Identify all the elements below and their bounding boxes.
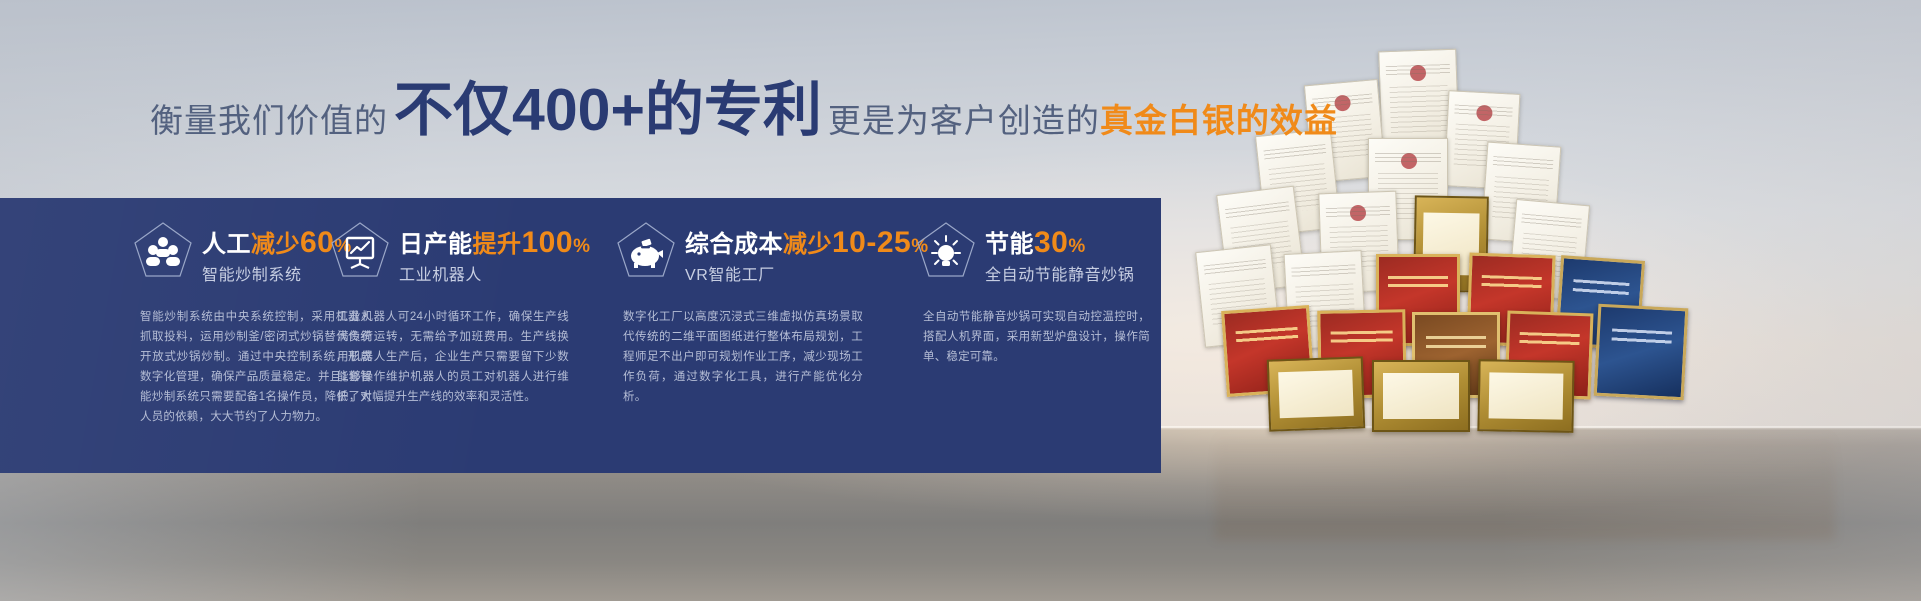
certificate-reflection: [1215, 430, 1835, 540]
award-frame: [1477, 359, 1574, 433]
feature-item: 日产能提升100% 工业机器人 工业机器人可24小时循环工作，确保生产线满负荷运…: [300, 198, 590, 473]
feature-body: 数字化工厂以高度沉浸式三维虚拟仿真场景取代传统的二维平面图纸进行整体布局规划，工…: [623, 307, 863, 407]
feature-head: 人工减少60% 智能炒制系统: [140, 198, 300, 276]
feature-subtitle: 智能炒制系统: [202, 268, 300, 284]
feature-body: 工业机器人可24小时循环工作，确保生产线满负荷运转，无需给予加班费用。生产线换用…: [337, 307, 569, 407]
headline-lead: 衡量我们价值的: [150, 104, 388, 140]
feature-list: 人工减少60% 智能炒制系统 智能炒制系统由中央系统控制，采用机器人抓取投料，运…: [0, 198, 1161, 473]
award-frame: [1372, 360, 1470, 432]
feature-head: 节能30% 全自动节能静音炒锅: [923, 198, 1161, 276]
feature-head: 综合成本减少10-25% VR智能工厂: [623, 198, 885, 276]
feature-subtitle: VR智能工厂: [685, 268, 885, 284]
headline-highlight: 真金白银的效益: [1100, 104, 1338, 140]
feature-title: 人工减少60%: [202, 228, 300, 258]
feature-subtitle: 全自动节能静音炒锅: [985, 268, 1161, 284]
feature-panel: 人工减少60% 智能炒制系统 智能炒制系统由中央系统控制，采用机器人抓取投料，运…: [0, 198, 1161, 473]
feature-item: 综合成本减少10-25% VR智能工厂 数字化工厂以高度沉浸式三维虚拟仿真场景取…: [590, 198, 885, 473]
feature-title: 节能30%: [985, 228, 1161, 258]
award-plaque: [1594, 304, 1689, 401]
feature-item: 节能30% 全自动节能静音炒锅 全自动节能静音炒锅可实现自动控温控时，搭配人机界…: [885, 198, 1161, 473]
feature-subtitle: 工业机器人: [399, 268, 590, 284]
feature-head: 日产能提升100% 工业机器人: [337, 198, 590, 276]
award-frame: [1267, 356, 1365, 431]
feature-title: 综合成本减少10-25%: [685, 228, 885, 258]
headline-emphasis: 不仅400+的专利: [388, 81, 828, 140]
people-group-icon: [132, 220, 194, 280]
chart-easel-icon: [329, 220, 391, 280]
piggy-bank-icon: [615, 220, 677, 280]
feature-body: 全自动节能静音炒锅可实现自动控温控时，搭配人机界面，采用新型炉盘设计，操作简单、…: [923, 307, 1150, 367]
feature-title: 日产能提升100%: [399, 228, 590, 258]
feature-item: 人工减少60% 智能炒制系统 智能炒制系统由中央系统控制，采用机器人抓取投料，运…: [0, 198, 300, 473]
page-title: 衡量我们价值的 不仅400+的专利 更是为客户创造的 真金白银的效益: [150, 78, 1338, 140]
headline-middle: 更是为客户创造的: [828, 104, 1100, 140]
banner-stage: 衡量我们价值的 不仅400+的专利 更是为客户创造的 真金白银的效益: [0, 0, 1921, 601]
lightbulb-icon: [915, 220, 977, 280]
